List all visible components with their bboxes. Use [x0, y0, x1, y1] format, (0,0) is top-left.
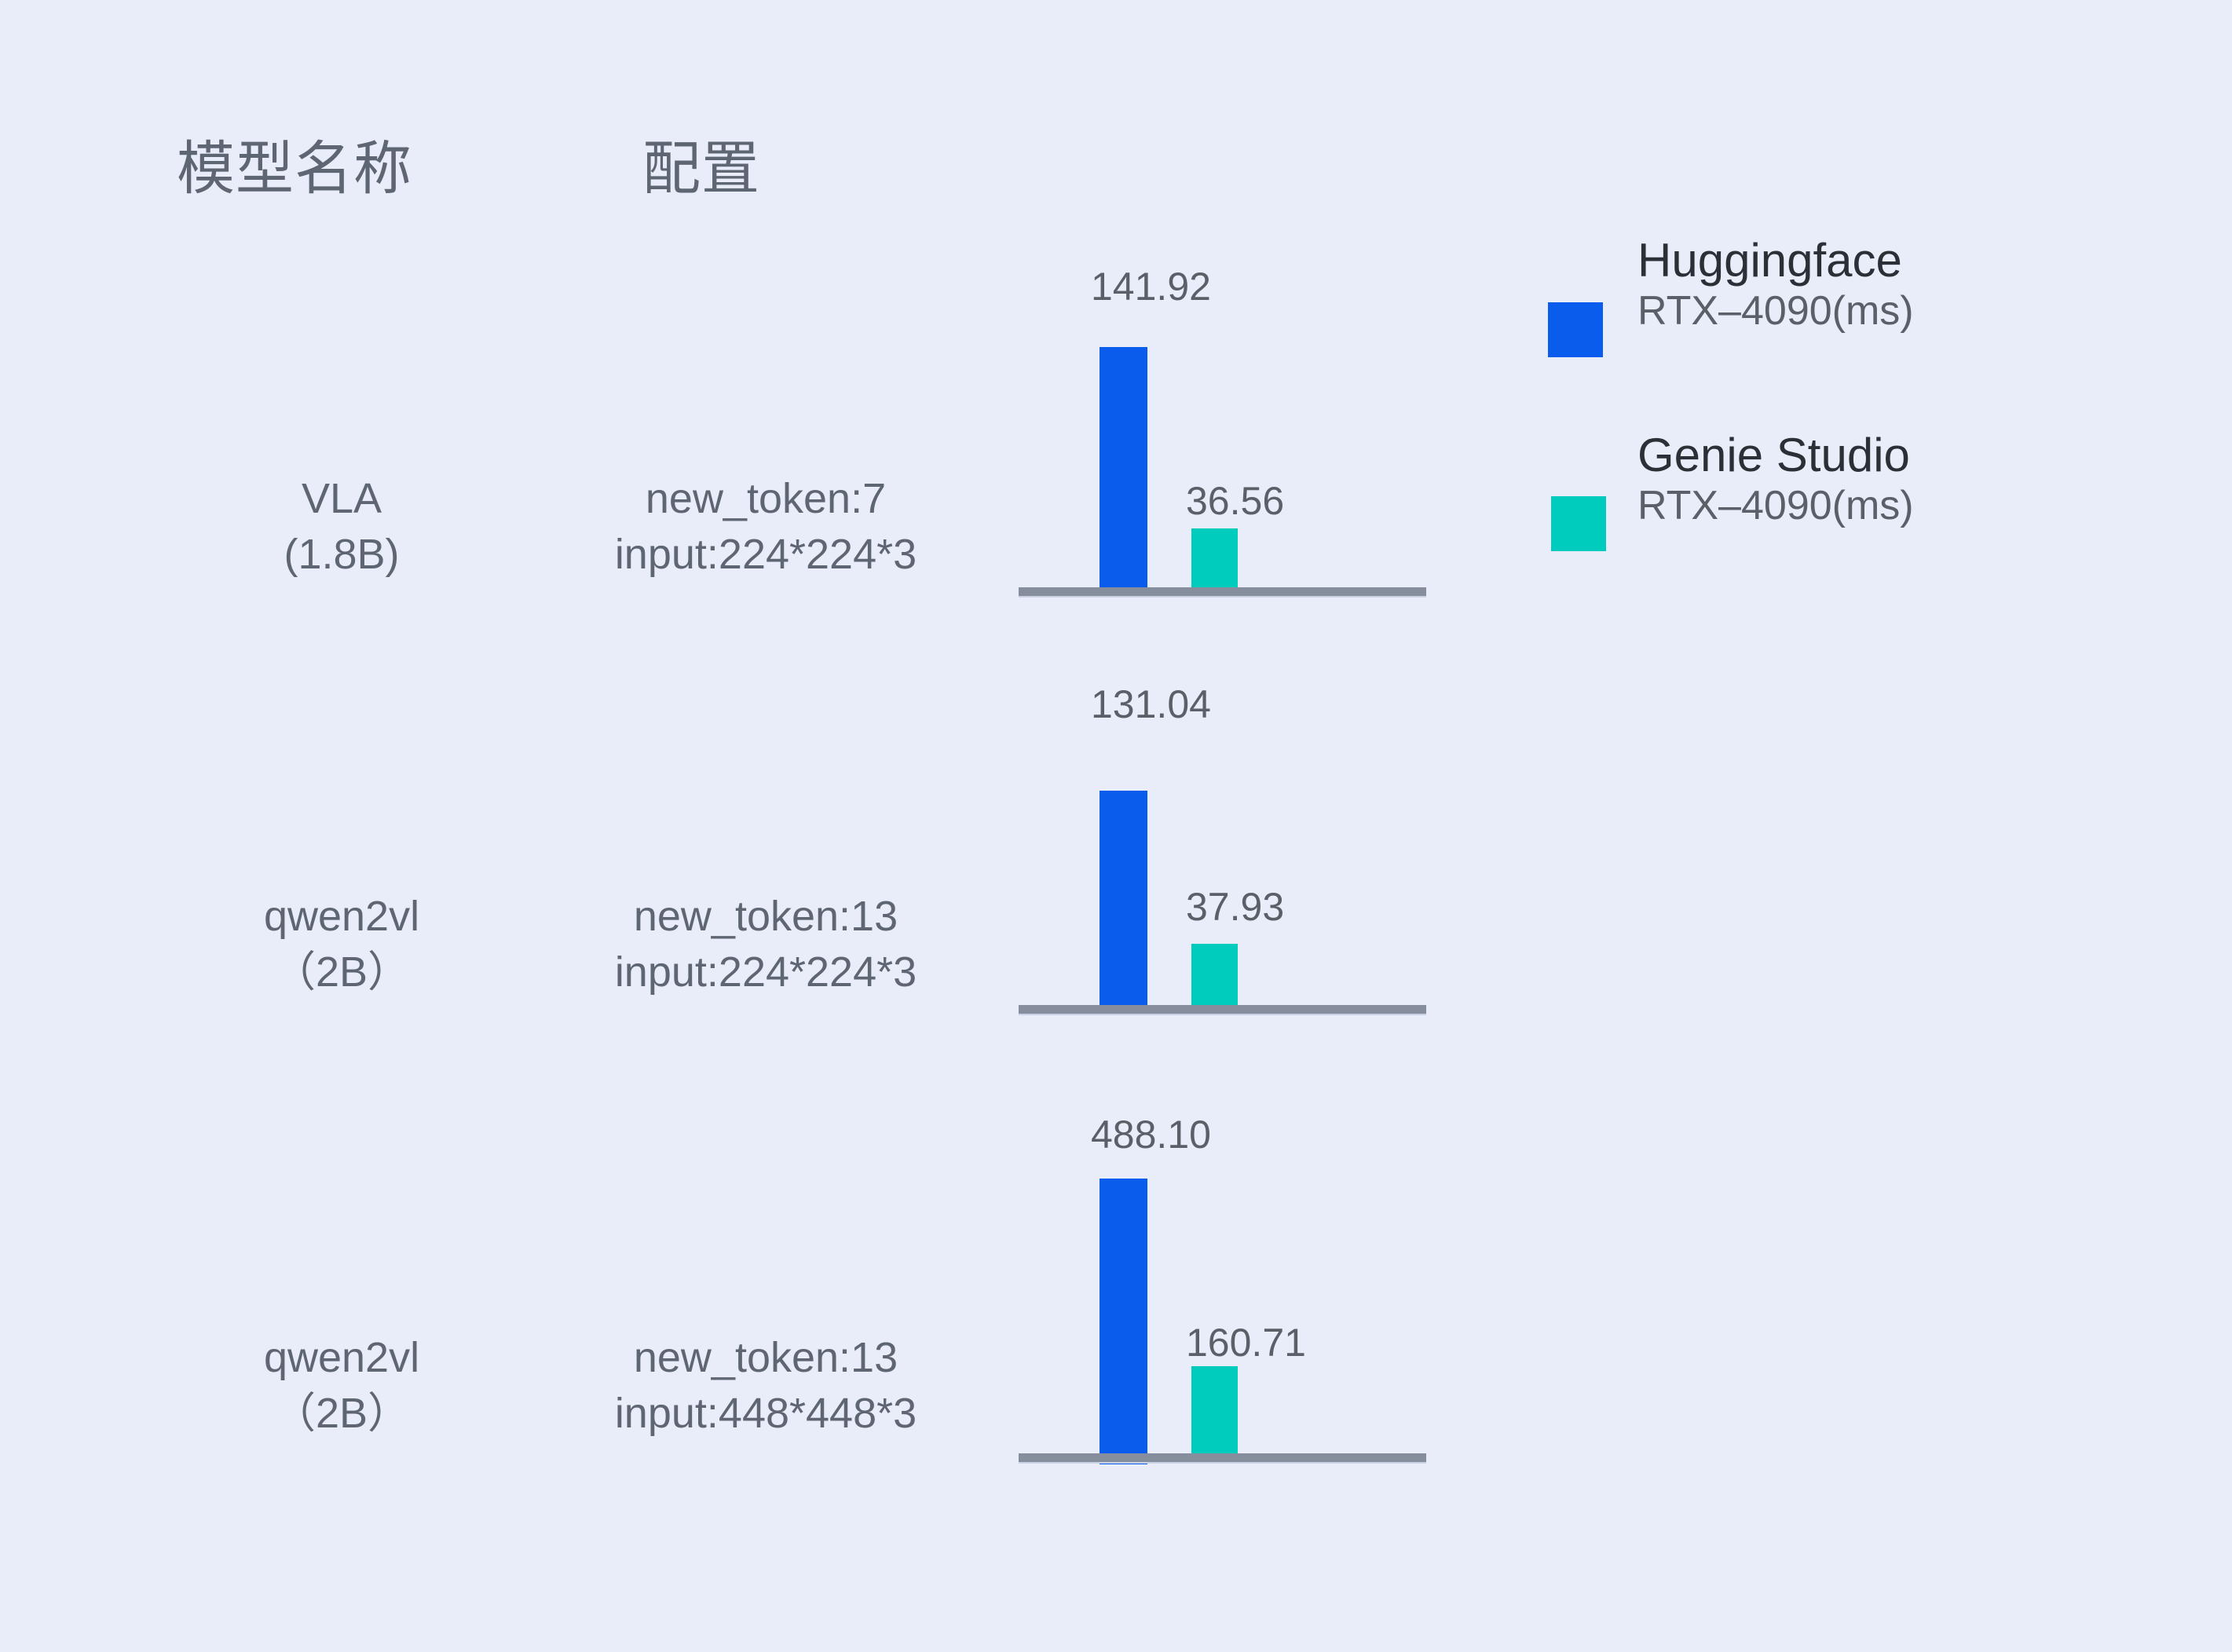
row-model-line1: VLA	[177, 471, 507, 527]
bar-genie-studio[interactable]	[1191, 1366, 1238, 1453]
legend-swatch-genie-studio	[1551, 496, 1606, 551]
row-config-line2: input:224*224*3	[491, 527, 1041, 583]
legend-label-group: Huggingface RTX–4090(ms)	[1637, 236, 2124, 336]
row-config-line1: new_token:13	[491, 889, 1041, 945]
row-model-label: qwen2vl （2B）	[177, 889, 507, 1001]
row-bar-chart: 131.04 37.93	[1019, 685, 1426, 1022]
row-config-line2: input:224*224*3	[491, 945, 1041, 1000]
row-model-line1: qwen2vl	[177, 1330, 507, 1386]
row-config-label: new_token:7 input:224*224*3	[491, 471, 1041, 583]
bar-genie-studio[interactable]	[1191, 528, 1238, 587]
row-config-label: new_token:13 input:224*224*3	[491, 889, 1041, 1001]
legend-title: Huggingface	[1637, 236, 2124, 287]
bar-value-genie-studio: 36.56	[1186, 481, 1284, 521]
row-model-line2: （2B）	[177, 945, 507, 1000]
legend-title: Genie Studio	[1637, 430, 2124, 481]
row-config-line1: new_token:13	[491, 1330, 1041, 1386]
bar-huggingface[interactable]	[1100, 347, 1147, 587]
bar-genie-studio[interactable]	[1191, 944, 1238, 1005]
column-header-model-name: 模型名称	[177, 140, 412, 198]
row-model-label: qwen2vl （2B）	[177, 1330, 507, 1442]
bar-value-genie-studio: 37.93	[1186, 887, 1284, 927]
bar-value-huggingface: 488.10	[1091, 1115, 1211, 1154]
bar-huggingface[interactable]	[1100, 791, 1147, 1005]
column-header-config: 配置	[642, 140, 760, 198]
chart-baseline	[1019, 1453, 1426, 1464]
chart-canvas: 模型名称 配置 VLA (1.8B) new_token:7 input:224…	[0, 0, 2232, 1652]
row-model-line1: qwen2vl	[177, 889, 507, 945]
legend-label-group: Genie Studio RTX–4090(ms)	[1637, 430, 2124, 531]
bar-value-huggingface: 141.92	[1091, 267, 1211, 306]
bar-value-genie-studio: 160.71	[1186, 1323, 1306, 1362]
row-config-line2: input:448*448*3	[491, 1386, 1041, 1442]
legend-subtitle: RTX–4090(ms)	[1637, 287, 2124, 336]
row-bar-chart: 141.92 36.56	[1019, 267, 1426, 605]
row-model-label: VLA (1.8B)	[177, 471, 507, 583]
chart-baseline	[1019, 1005, 1426, 1015]
row-model-line2: (1.8B)	[177, 527, 507, 583]
legend-subtitle: RTX–4090(ms)	[1637, 481, 2124, 531]
row-model-line2: （2B）	[177, 1386, 507, 1442]
bar-huggingface[interactable]	[1100, 1179, 1147, 1464]
row-bar-chart: 488.10 160.71	[1019, 1115, 1426, 1468]
legend-swatch-huggingface	[1548, 302, 1603, 357]
chart-baseline	[1019, 587, 1426, 598]
row-config-line1: new_token:7	[491, 471, 1041, 527]
bar-value-huggingface: 131.04	[1091, 685, 1211, 724]
row-config-label: new_token:13 input:448*448*3	[491, 1330, 1041, 1442]
